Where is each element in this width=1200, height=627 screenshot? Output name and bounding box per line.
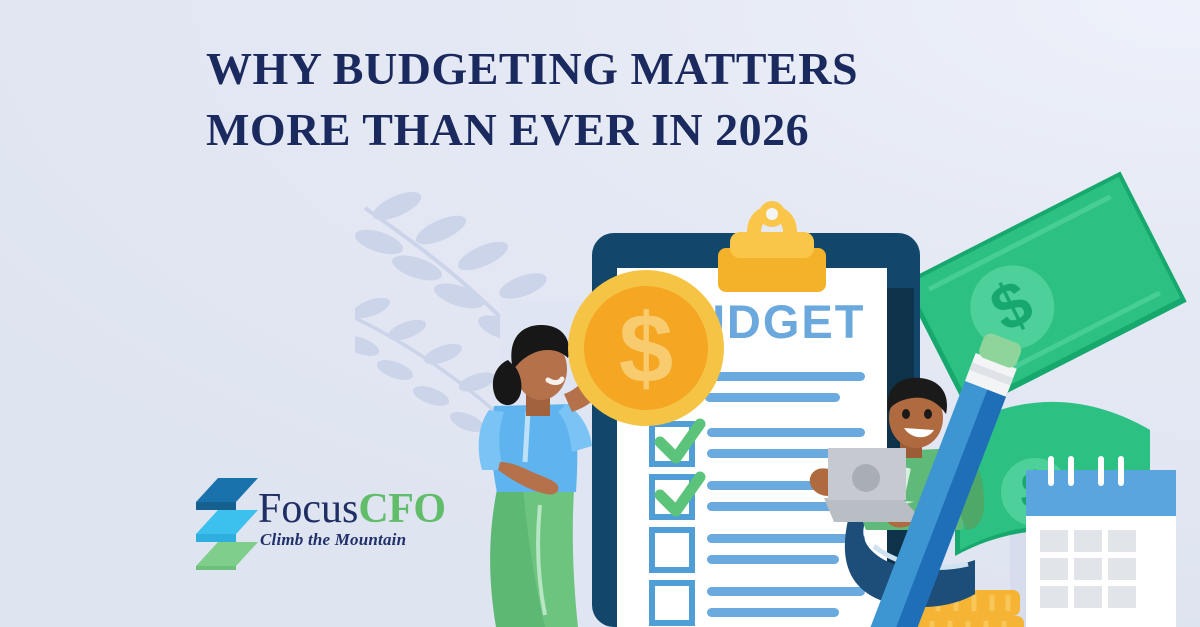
svg-text:$: $	[619, 293, 674, 403]
logo-word-focus: Focus	[258, 486, 358, 532]
logo-word-cfo: CFO	[358, 486, 445, 532]
marketing-banner: WHY BUDGETING MATTERS MORE THAN EVER IN …	[0, 0, 1200, 627]
focuscfo-logo[interactable]: FocusCFO Climb the Mountain	[196, 472, 496, 572]
coin-dollar-icon: $	[568, 270, 724, 426]
calendar-icon	[1026, 456, 1176, 627]
clipboard-clip-icon	[718, 201, 826, 292]
logo-tagline: Climb the Mountain	[260, 530, 406, 550]
focuscfo-wordmark: FocusCFO	[258, 486, 446, 532]
budget-illustration: $ $	[0, 0, 1200, 627]
focuscfo-logo-mark	[196, 474, 258, 570]
